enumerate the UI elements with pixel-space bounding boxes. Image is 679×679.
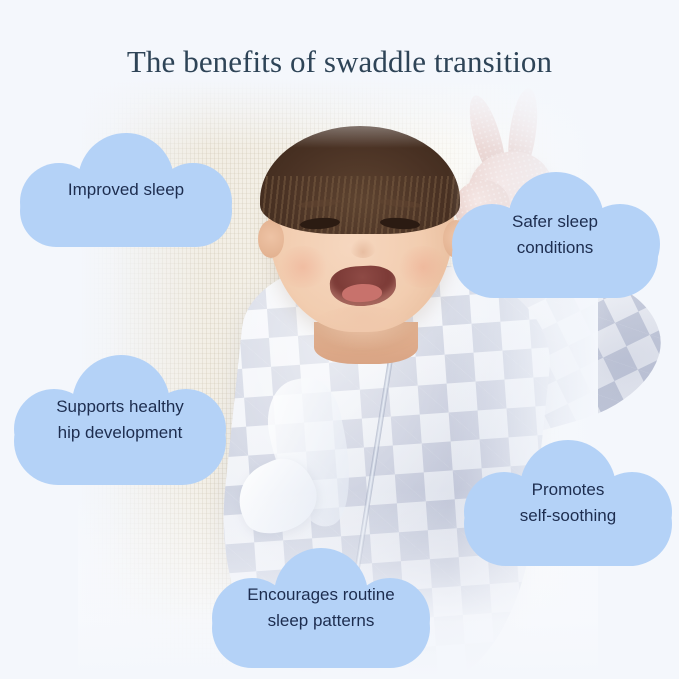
benefit-cloud-routine-sleep: Encourages routine sleep patterns: [212, 548, 430, 668]
baby-nose: [350, 238, 376, 258]
page-title: The benefits of swaddle transition: [0, 44, 679, 80]
benefit-label: Supports healthy hip development: [56, 394, 184, 446]
benefit-cloud-improved-sleep: Improved sleep: [20, 133, 232, 247]
benefit-cloud-self-soothing: Promotes self-soothing: [464, 440, 672, 566]
baby-cheek-left: [276, 246, 330, 288]
benefit-cloud-hip-development: Supports healthy hip development: [14, 355, 226, 485]
benefit-label: Improved sleep: [68, 177, 184, 203]
benefit-label: Promotes self-soothing: [520, 477, 616, 529]
baby-cheek-right: [396, 246, 450, 288]
benefit-label: Safer sleep conditions: [512, 209, 598, 261]
benefits-infographic: The benefits of swaddle transition Impro…: [0, 0, 679, 679]
baby-chin: [310, 306, 416, 350]
benefit-cloud-safer-sleep: Safer sleep conditions: [452, 172, 658, 298]
benefit-label: Encourages routine sleep patterns: [247, 582, 394, 634]
